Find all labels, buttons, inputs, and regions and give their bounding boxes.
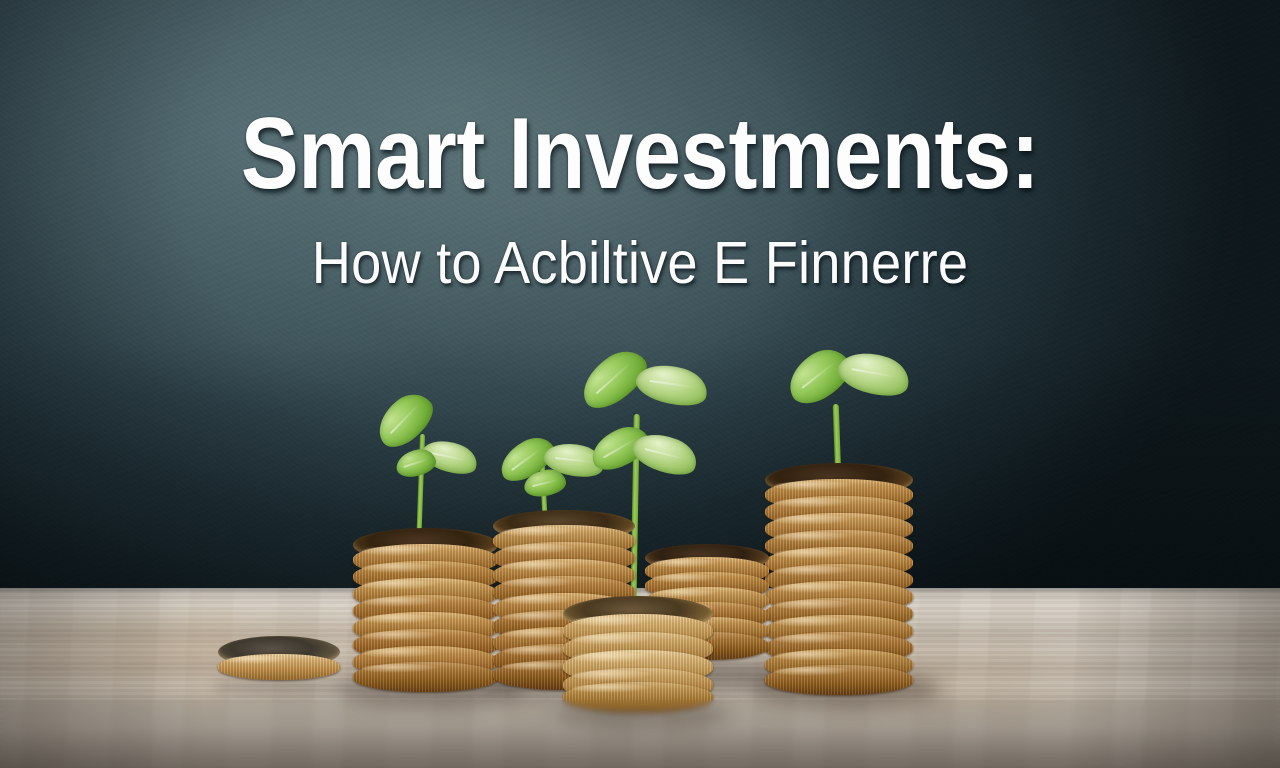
headline-title-row: Smart Investments: — [0, 104, 1280, 205]
coin — [353, 662, 498, 692]
banner-image: Smart Investments: How to Acbiltive E Fi… — [0, 0, 1280, 768]
coin-stack-left — [353, 522, 498, 690]
leaf — [834, 344, 915, 404]
coin-stack-tall-right — [765, 455, 913, 690]
headline-subtitle: How to Acbiltive E Finnerre — [51, 234, 1229, 293]
foreground-depth-blur — [0, 700, 1280, 768]
loose-coin — [218, 636, 340, 686]
headline-title: Smart Investments: — [90, 104, 1191, 205]
coin — [765, 665, 913, 695]
coin-stack-front-gold — [563, 590, 713, 708]
headline-subtitle-row: How to Acbiltive E Finnerre — [0, 234, 1280, 293]
coin — [218, 654, 340, 680]
